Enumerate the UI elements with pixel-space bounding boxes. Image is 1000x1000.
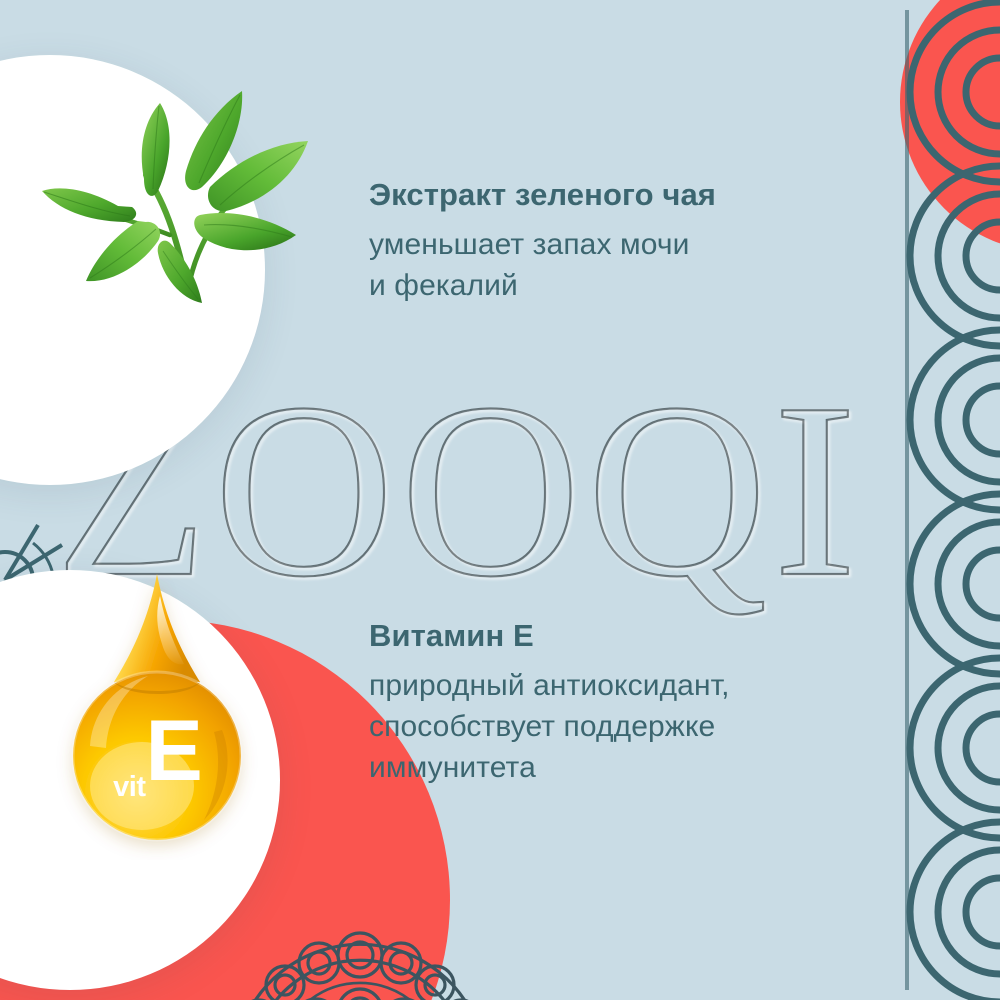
green-tea-body-line-2: и фекалий [369, 266, 889, 307]
vitamin-e-body-line-2: способствует поддержке [369, 707, 909, 748]
mandala-fan-bottom [215, 893, 505, 1000]
promo-banner: ZOOQI [0, 0, 1000, 1000]
green-tea-heading: Экстракт зеленого чая [369, 176, 889, 213]
green-tea-leaves-icon [20, 75, 330, 330]
vitamin-e-body-line-3: иммунитета [369, 748, 909, 789]
green-tea-body-line-1: уменьшает запах мочи [369, 225, 889, 266]
vitamin-e-heading: Витамин Е [369, 617, 909, 654]
mandala-edge-pattern-right [880, 0, 1000, 1000]
feature-block-vitamin-e: Витамин Е природный антиоксидант, способ… [369, 617, 909, 789]
feature-block-green-tea: Экстракт зеленого чая уменьшает запах мо… [369, 176, 889, 307]
vitamin-e-body-line-1: природный антиоксидант, [369, 666, 909, 707]
vitamin-e-oil-drop-icon: vitE [42, 570, 272, 860]
